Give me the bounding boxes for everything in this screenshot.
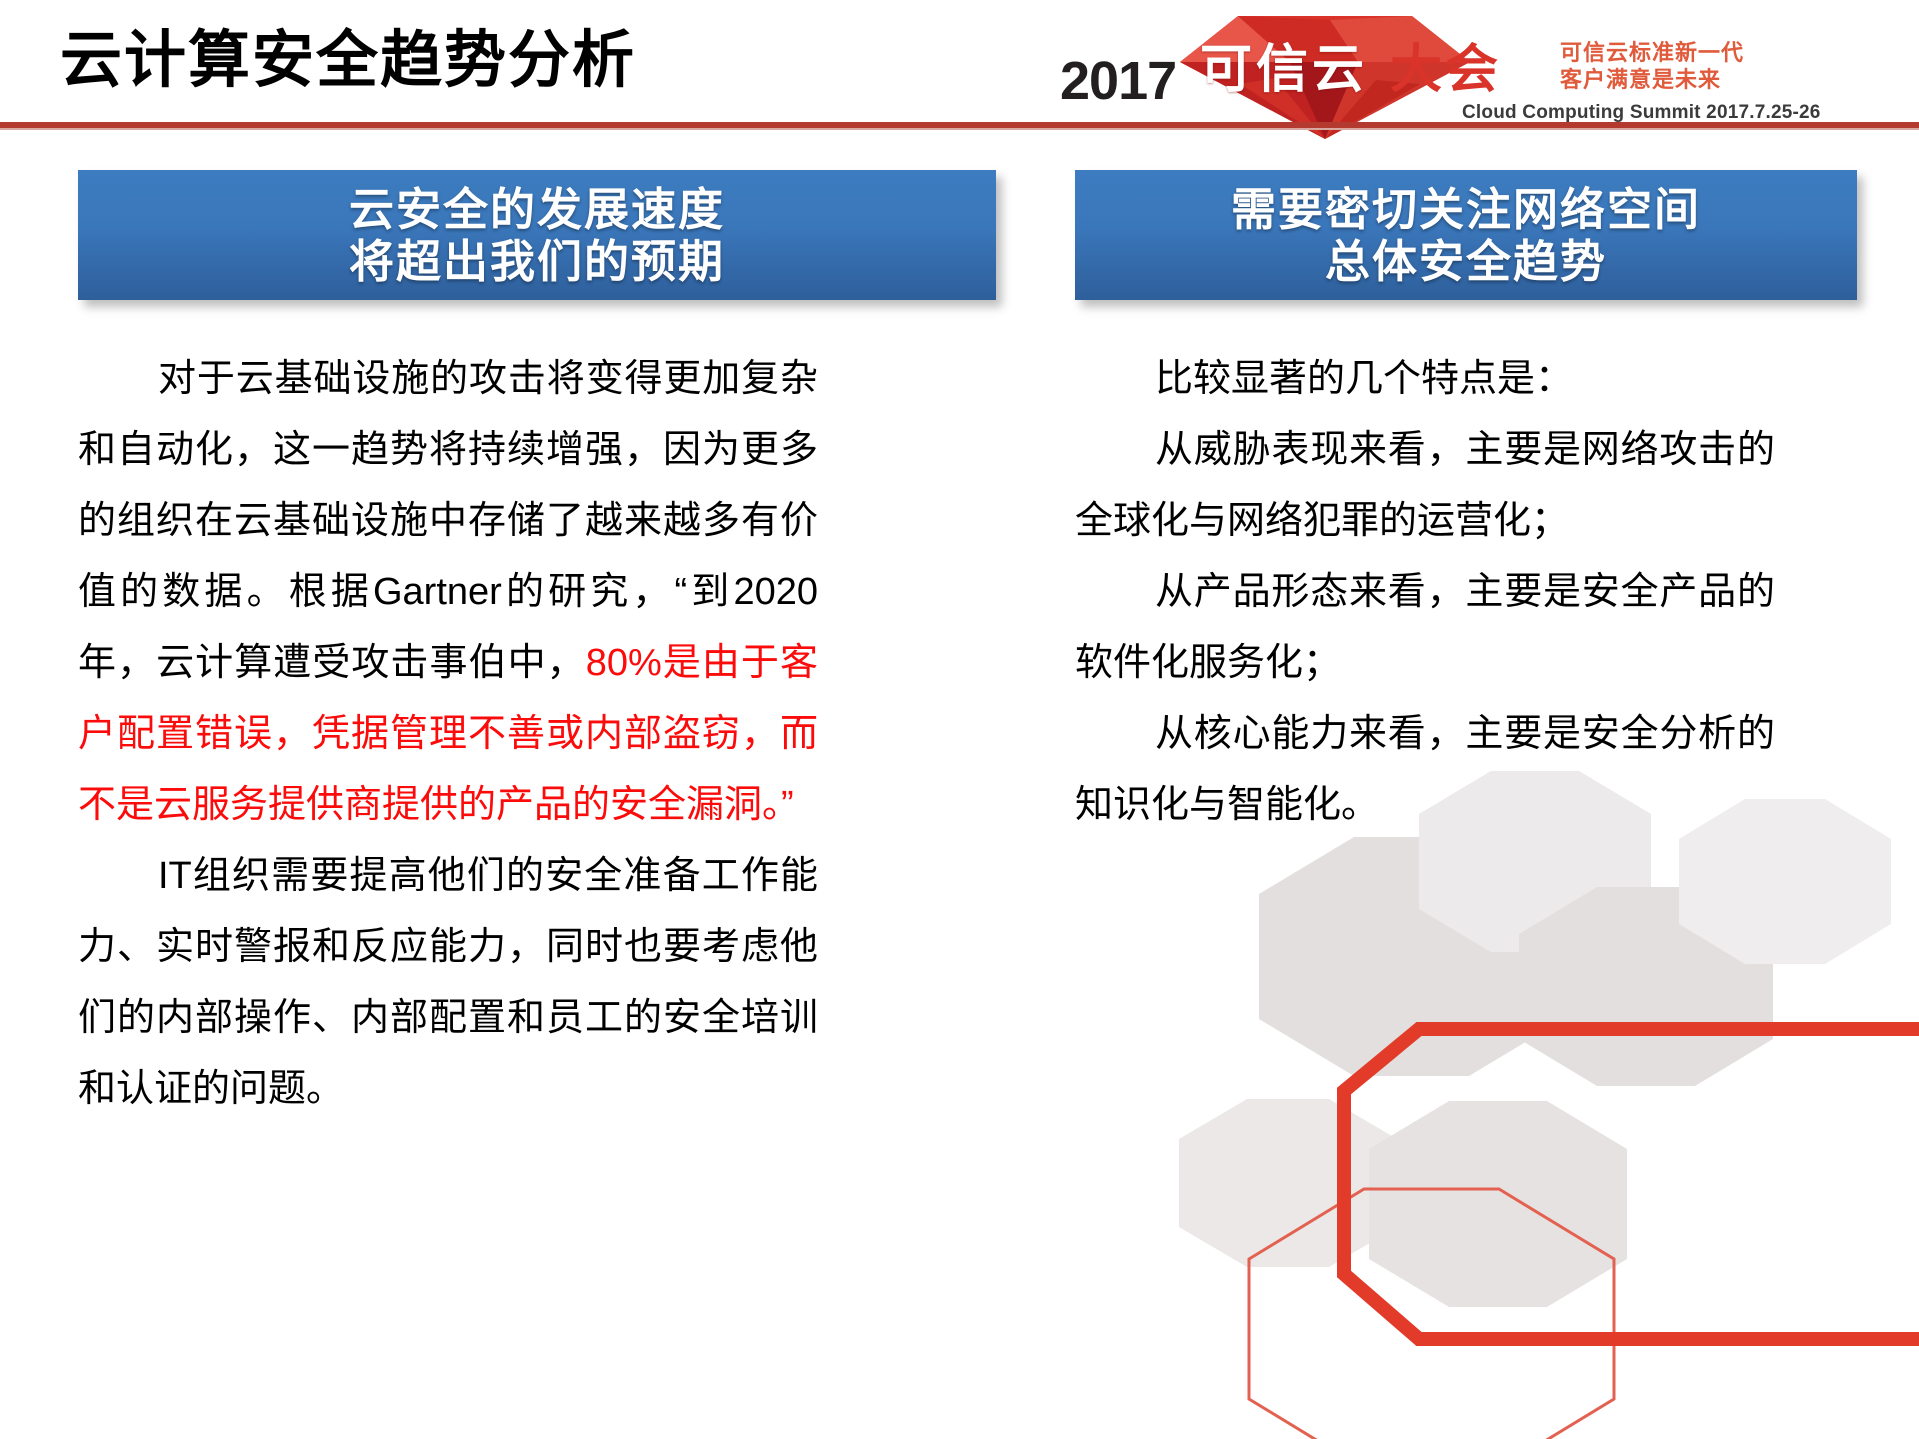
hexagon-outline xyxy=(1249,1189,1614,1439)
left-paragraph-2: IT组织需要提高他们的安全准备工作能力、实时警报和反应能力，同时也要考虑他们的内… xyxy=(78,841,818,1125)
right-paragraph-3: 从产品形态来看，主要是安全产品的软件化服务化； xyxy=(1075,557,1775,699)
right-panel-body: 比较显著的几个特点是： 从威胁表现来看，主要是网络攻击的全球化与网络犯罪的运营化… xyxy=(1075,344,1775,841)
logo-name-white: 可信云 xyxy=(1200,44,1368,96)
left-paragraph-1: 对于云基础设施的攻击将变得更加复杂和自动化，这一趋势将持续增强，因为更多的组织在… xyxy=(78,344,818,841)
octagon-shape xyxy=(1179,1099,1397,1267)
conference-logo: 2017 可信云 大会 可信云标准新一代 客户满意是未来 Cloud Compu… xyxy=(1060,18,1860,130)
logo-name-red: 大会 xyxy=(1390,44,1502,96)
right-heading-line2: 总体安全趋势 xyxy=(1085,236,1847,288)
logo-tagline-line1: 可信云标准新一代 xyxy=(1560,40,1744,67)
logo-tagline-line2: 客户满意是未来 xyxy=(1560,67,1744,94)
right-panel-heading: 需要密切关注网络空间 总体安全趋势 xyxy=(1075,170,1857,300)
page-title: 云计算安全趋势分析 xyxy=(60,30,636,92)
right-paragraph-2: 从威胁表现来看，主要是网络攻击的全球化与网络犯罪的运营化； xyxy=(1075,415,1775,557)
slide-header: 云计算安全趋势分析 2017 可信云 大会 可信云标准新一代 客户满意是未来 C… xyxy=(0,0,1919,130)
left-column: 云安全的发展速度 将超出我们的预期 对于云基础设施的攻击将变得更加复杂和自动化，… xyxy=(78,170,996,1125)
left-heading-line2: 将超出我们的预期 xyxy=(88,236,986,288)
right-paragraph-1: 比较显著的几个特点是： xyxy=(1075,344,1775,415)
octagon-shape xyxy=(1519,887,1773,1086)
right-paragraph-4: 从核心能力来看，主要是安全分析的知识化与智能化。 xyxy=(1075,699,1775,841)
header-divider-thin xyxy=(0,128,1919,130)
left-heading-line1: 云安全的发展速度 xyxy=(88,184,986,236)
left-paragraph-1-black: 对于云基础设施的攻击将变得更加复杂和自动化，这一趋势将持续增强，因为更多的组织在… xyxy=(78,358,818,684)
logo-english-subtitle: Cloud Computing Summit 2017.7.25-26 xyxy=(1462,102,1821,124)
logo-tagline: 可信云标准新一代 客户满意是未来 xyxy=(1560,40,1744,94)
left-panel-body: 对于云基础设施的攻击将变得更加复杂和自动化，这一趋势将持续增强，因为更多的组织在… xyxy=(78,344,818,1125)
octagon-shape xyxy=(1369,1101,1627,1307)
left-panel-heading: 云安全的发展速度 将超出我们的预期 xyxy=(78,170,996,300)
octagon-shape xyxy=(1259,837,1564,1076)
logo-year-label: 2017 xyxy=(1060,54,1176,108)
red-path-line xyxy=(1344,1029,1919,1339)
right-heading-line1: 需要密切关注网络空间 xyxy=(1085,184,1847,236)
right-column: 需要密切关注网络空间 总体安全趋势 比较显著的几个特点是： 从威胁表现来看，主要… xyxy=(1075,170,1857,841)
